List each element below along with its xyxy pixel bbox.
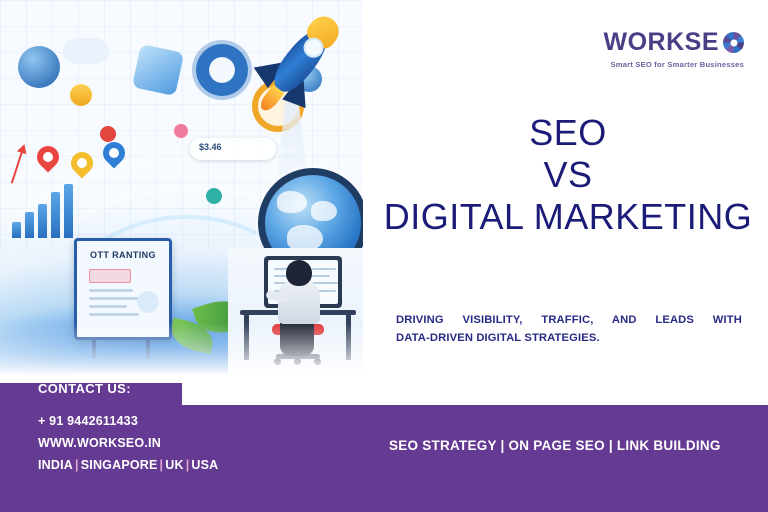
brand-logo[interactable]: WORKSE Smart SEO for Smarter Businesses [604,30,745,69]
bitcoin-coin-icon [70,84,92,106]
pink-dot-icon [174,124,188,138]
ticker-value: $3.46 [199,142,222,152]
illustration-bottom-fade [0,323,363,383]
board-line-1 [89,289,133,292]
poster-canvas: $3.46 SEO OTT RANTING [0,0,768,512]
headline-line-3: DIGITAL MARKETING [380,196,756,238]
subtitle-line-2: DATA-DRIVEN DIGITAL STRATEGIES. [396,329,742,347]
logo-wordmark: WORKSE [604,30,720,55]
settings-gear-icon [196,44,248,96]
price-ticker-badge: $3.46 [190,138,276,160]
services-list: SEO STRATEGY | ON PAGE SEO | LINK BUILDI… [389,438,721,453]
globe-landmass-2 [311,201,337,221]
subtitle-text: DRIVING VISIBILITY, TRAFFIC, AND LEADS W… [396,311,742,348]
headline-line-2: VS [380,154,756,196]
subtitle-line-1: DRIVING VISIBILITY, TRAFFIC, AND LEADS W… [396,311,742,329]
teal-dot-icon [206,188,222,204]
contact-heading: CONTACT US: [38,381,131,396]
contact-phone[interactable]: + 91 9442611433 [38,411,218,433]
location-singapore: SINGAPORE [81,458,158,472]
contact-details: + 91 9442611433 WWW.WORKSEO.IN INDIA|SIN… [38,411,218,476]
location-separator: | [73,458,81,472]
network-node-icon [18,46,60,88]
location-usa: USA [191,458,218,472]
pinwheel-globe-icon [723,32,744,53]
globe-landmass-1 [277,191,307,213]
contact-website[interactable]: WWW.WORKSEO.IN [38,433,218,455]
board-title-text: OTT RANTING [77,250,169,260]
bar-chart-icon [12,182,76,238]
person-head [286,260,312,286]
hero-illustration: $3.46 SEO OTT RANTING [0,0,363,383]
contact-locations: INDIA|SINGAPORE|UK|USA [38,455,218,477]
board-line-4 [89,313,139,316]
cloud-node-icon [63,38,109,64]
red-alert-dot-icon [100,126,116,142]
board-highlight-box [89,269,131,283]
location-india: INDIA [38,458,73,472]
brand-tagline: Smart SEO for Smarter Businesses [604,60,745,69]
page-title: SEO VS DIGITAL MARKETING [380,112,756,238]
crystal-node-icon [132,44,184,96]
illustration-watermark: SEO [278,146,298,155]
board-chart-icon [137,291,159,313]
headline-line-1: SEO [380,112,756,154]
location-uk: UK [165,458,183,472]
board-line-3 [89,305,127,308]
